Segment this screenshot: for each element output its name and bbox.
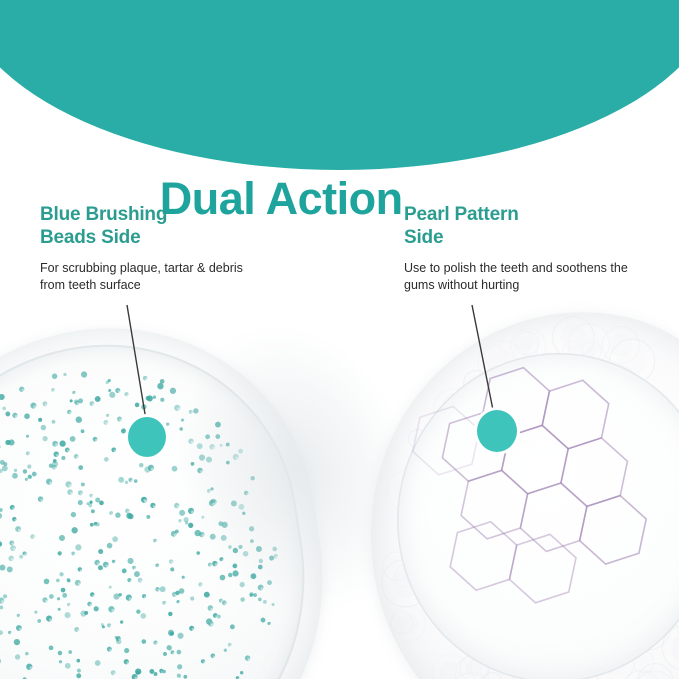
callout-right-title-line1: Pearl Pattern — [404, 204, 519, 225]
header-banner — [0, 0, 679, 170]
callout-left-title-line2: Beads Side — [40, 227, 140, 248]
callout-left-title: Blue Brushing Beads Side — [40, 203, 270, 249]
callout-right-body: Use to polish the teeth and soothens the… — [404, 260, 634, 294]
product-photo — [0, 300, 679, 679]
product-infographic: Dual ActionPlaque & Tartar Prevention Bl… — [0, 0, 679, 679]
marker-dot-pearl-pattern[interactable] — [474, 407, 520, 455]
callout-left-title-line1: Blue Brushing — [40, 204, 167, 225]
callout-blue-brushing-beads: Blue Brushing Beads Side For scrubbing p… — [40, 203, 270, 294]
callout-right-title-line2: Side — [404, 227, 443, 248]
marker-dot-blue-brushing-beads[interactable] — [125, 414, 169, 460]
callout-right-title: Pearl Pattern Side — [404, 203, 634, 249]
callout-left-body: For scrubbing plaque, tartar & debris fr… — [40, 260, 270, 294]
callout-pearl-pattern: Pearl Pattern Side Use to polish the tee… — [404, 203, 634, 294]
